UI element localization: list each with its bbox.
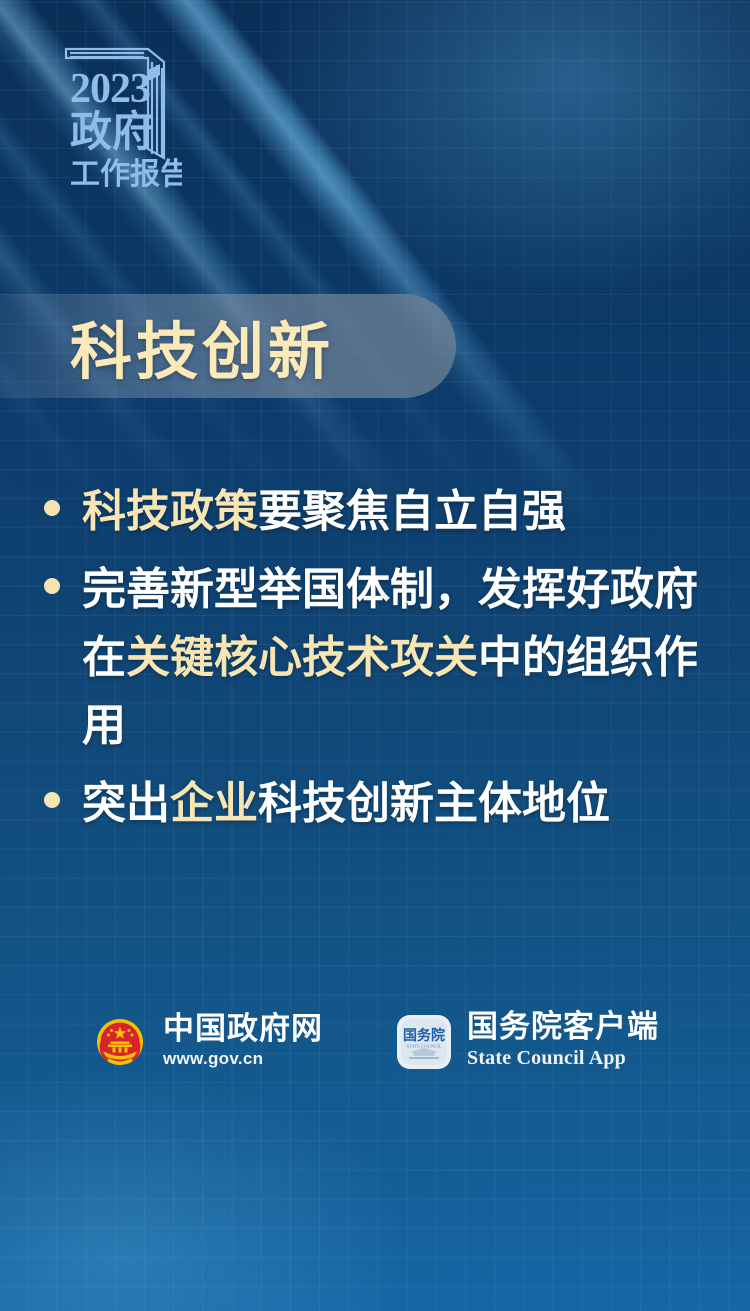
brand-name-cn: 中国政府网 xyxy=(163,1012,323,1045)
bullet-plain: 要聚焦自立自强 xyxy=(258,487,566,536)
logo-year: 2023 xyxy=(70,66,150,112)
page-title: 科技创新 xyxy=(70,296,334,396)
brand-state-council-app: 国务院 STATE COUNCIL 国务院客户端 State Council A… xyxy=(395,1010,659,1073)
brand-url: www.gov.cn xyxy=(163,1046,323,1072)
bullet-highlight: 科技政策 xyxy=(82,487,258,536)
brand-subtitle-en: State Council App xyxy=(467,1043,659,1073)
brand-gov-cn: 中国政府网 www.gov.cn xyxy=(91,1012,323,1071)
bullet-dot-icon xyxy=(44,792,60,808)
state-council-app-icon: 国务院 STATE COUNCIL xyxy=(395,1013,453,1071)
bullet-dot-icon xyxy=(44,500,60,516)
logo-line2: 政府 xyxy=(70,108,154,155)
bullet-dot-icon xyxy=(44,578,60,594)
national-emblem-icon xyxy=(91,1013,149,1071)
bullet-list: 科技政策要聚焦自立自强 完善新型举国体制，发挥好政府在关键核心技术攻关中的组织作… xyxy=(44,478,714,848)
brand-text-gov-cn: 中国政府网 www.gov.cn xyxy=(163,1012,323,1071)
bullet-highlight: 企业 xyxy=(170,779,258,828)
bullet-plain: 科技创新主体地位 xyxy=(258,779,610,828)
footer: 中国政府网 www.gov.cn 国务院 STATE COUNCIL 国务院客户… xyxy=(0,1010,750,1073)
list-item: 突出企业科技创新主体地位 xyxy=(44,770,714,838)
bullet-plain: 突出 xyxy=(82,779,170,828)
bullet-text: 完善新型举国体制，发挥好政府在关键核心技术攻关中的组织作用 xyxy=(82,556,714,760)
brand-text-state-council: 国务院客户端 State Council App xyxy=(467,1010,659,1073)
list-item: 完善新型举国体制，发挥好政府在关键核心技术攻关中的组织作用 xyxy=(44,556,714,760)
report-logo: 2023 政府 工作报告 xyxy=(44,38,182,193)
bullet-text: 科技政策要聚焦自立自强 xyxy=(82,478,714,546)
poster-root: 2023 政府 工作报告 科技创新 科技政策要聚焦自立自强 完善新型举国体制，发… xyxy=(0,0,750,1311)
svg-text:STATE COUNCIL: STATE COUNCIL xyxy=(407,1043,442,1048)
bullet-text: 突出企业科技创新主体地位 xyxy=(82,770,714,838)
logo-line3: 工作报告 xyxy=(70,158,182,191)
brand-name-cn: 国务院客户端 xyxy=(467,1010,659,1043)
bullet-highlight: 关键核心技术攻关 xyxy=(126,633,478,682)
app-icon-label: 国务院 xyxy=(403,1027,445,1043)
list-item: 科技政策要聚焦自立自强 xyxy=(44,478,714,546)
